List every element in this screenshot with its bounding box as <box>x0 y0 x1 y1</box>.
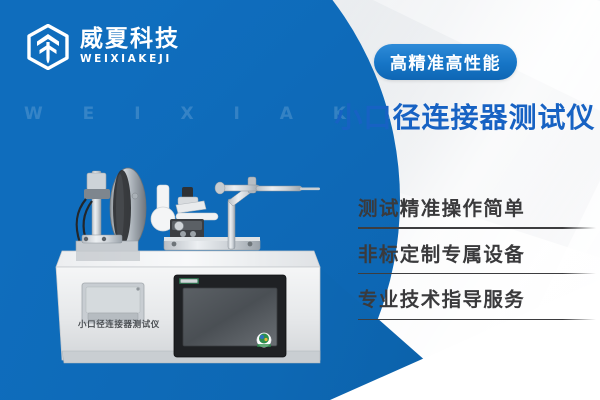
page-title: 小口径连接器测试仪 <box>330 96 600 136</box>
hero-badge: 高精准高性能 <box>374 44 517 80</box>
list-item: 专业技术指导服务 <box>358 287 596 320</box>
feature-label: 测试精准操作简单 <box>358 196 596 222</box>
feature-list: 测试精准操作简单 非标定制专属设备 专业技术指导服务 <box>358 196 596 333</box>
hexagon-shield-icon <box>26 24 70 70</box>
feature-divider <box>358 319 596 320</box>
feature-label: 专业技术指导服务 <box>358 287 596 313</box>
feature-divider <box>358 227 596 228</box>
feature-divider <box>358 273 596 274</box>
brand-name-cn: 威夏科技 <box>80 27 180 52</box>
brand-name-en: WEIXIAKEJI <box>80 53 180 67</box>
brand-logo: 威夏科技 WEIXIAKEJI <box>26 24 180 70</box>
product-banner: 威夏科技 WEIXIAKEJI W E I X I A K E J I <box>0 0 600 400</box>
hero-text-column: 高精准高性能 小口径连接器测试仪 测试精准操作简单 非标定制专属设备 专业技术指… <box>352 0 600 400</box>
brand-logo-text: 威夏科技 WEIXIAKEJI <box>80 27 180 66</box>
list-item: 非标定制专属设备 <box>358 242 596 275</box>
product-photo <box>52 155 324 380</box>
feature-label: 非标定制专属设备 <box>358 242 596 268</box>
list-item: 测试精准操作简单 <box>358 196 596 229</box>
product-panel-label: 小口径连接器测试仪 <box>78 318 160 330</box>
